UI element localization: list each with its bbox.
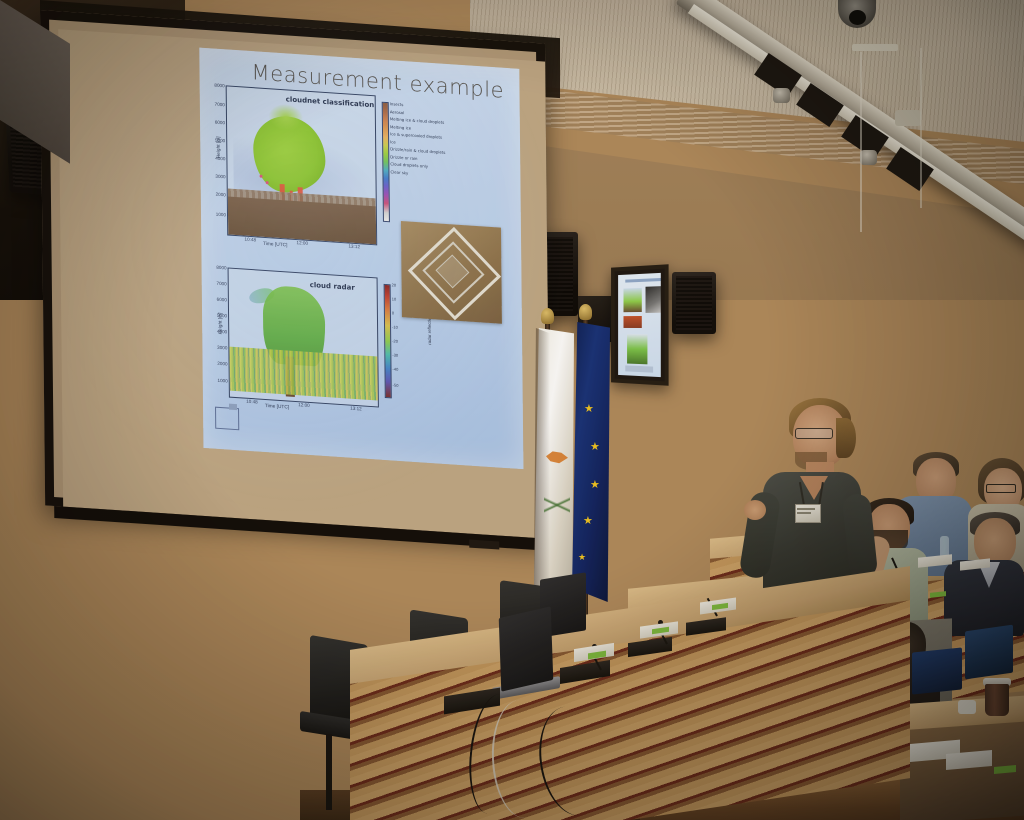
laptop-screen-front: [499, 606, 554, 691]
spotlight-icon: [773, 88, 790, 103]
colorbar-tick: -40: [392, 366, 398, 371]
projected-slide: Measurement example: [199, 48, 523, 470]
eu-star-icon: ★: [583, 516, 593, 527]
spotlight-icon: [860, 150, 877, 165]
monitor-colorbar-thumb: [623, 316, 641, 328]
colorbar-tick: -20: [392, 338, 398, 343]
y-tick: 1000: [216, 212, 226, 218]
laptop-screen-right: [912, 647, 962, 694]
y-tick: 6000: [217, 297, 227, 303]
x-axis-label-bottom: Time [UTC]: [265, 404, 289, 411]
radar-photo-inset: [401, 221, 502, 324]
ceiling-fixture: [895, 110, 921, 126]
dome-camera-lens: [849, 10, 866, 25]
eu-star-icon: ★: [584, 404, 594, 415]
flagpole-finial: [541, 308, 554, 324]
y-axis-label-bottom: Height [m]: [218, 312, 223, 334]
chart-cloud-radar: 8000 7000 6000 5000 4000 3000 2000 1000 …: [228, 267, 379, 407]
colorbar-tick: 20: [392, 282, 397, 287]
monitor-photo-thumb: [646, 286, 661, 313]
x-tick: 13:12: [348, 244, 360, 250]
colorbar-tick: -30: [392, 352, 398, 357]
classification-colorbar: [382, 102, 390, 223]
flagpole-finial: [579, 304, 592, 320]
olive-branches-emblem: [544, 480, 570, 528]
y-tick: 6000: [215, 120, 225, 126]
reflectivity-colorbar: [384, 284, 392, 399]
lecture-hall-photo: Measurement example: [0, 0, 1024, 820]
y-axis-label-top: Height [m]: [217, 136, 222, 158]
projection-screen-frame: Measurement example: [40, 10, 550, 539]
presenter-badge-text-line: [797, 512, 811, 514]
y-tick: 7000: [215, 102, 225, 108]
laptop-screen-far-right: [965, 625, 1013, 680]
y-tick: 2000: [216, 192, 226, 198]
monitor-chart-thumb: [627, 334, 647, 364]
colorbar-tick: 10: [392, 296, 397, 301]
x-tick: 13:12: [350, 406, 362, 412]
wall-speaker-right-grille: [676, 276, 712, 330]
presenter-glasses: [795, 428, 833, 439]
ceiling-bracket: [852, 44, 898, 51]
drizzle-pixel: [266, 181, 269, 184]
eu-star-icon: ★: [578, 552, 586, 563]
attendee-2-glasses: [986, 484, 1016, 493]
boundary-layer-texture: [229, 347, 377, 401]
monitor-caption-bar: [625, 365, 653, 372]
presenter-badge-text-line: [797, 508, 815, 510]
colorbar-tick: -50: [393, 382, 399, 387]
presenter-left-hand: [744, 500, 766, 520]
colorbar-tick: -10: [392, 324, 398, 329]
chair-leg: [326, 734, 332, 810]
colorbar-tick: 0: [392, 310, 394, 315]
x-tick: 10:48: [246, 399, 258, 405]
wall-monitor: [611, 264, 669, 386]
y-tick: 8000: [214, 83, 224, 89]
eu-star-icon: ★: [590, 442, 600, 453]
projection-screen: Measurement example: [40, 10, 550, 544]
x-axis-label-top: Time [UTC]: [263, 242, 287, 249]
x-tick: 12:00: [296, 240, 308, 246]
coffee-cup: [985, 684, 1009, 716]
chart-cloud-radar-data: [229, 269, 378, 407]
ceiling-hanger-wire: [860, 52, 862, 232]
y-tick: 8000: [216, 265, 226, 271]
ceiling-hanger-wire: [920, 48, 922, 208]
eu-star-icon: ★: [590, 480, 600, 491]
y-tick: 1000: [217, 378, 227, 384]
chart-cloudnet-data: [227, 86, 377, 244]
y-tick: 3000: [217, 345, 227, 351]
y-tick: 3000: [215, 174, 225, 180]
drizzle-pixel: [260, 175, 263, 178]
napkin: [958, 700, 976, 714]
slide-logo-mark: [229, 404, 237, 411]
x-tick: 12:00: [298, 402, 310, 408]
monitor-chart-thumb: [623, 288, 641, 312]
chart-cloudnet-classification: 8000 7000 6000 5000 4000 3000 2000 1000 …: [226, 85, 378, 245]
cyprus-flag-shadow: [534, 328, 550, 596]
slide-logo: [215, 407, 239, 431]
wall-monitor-screen: [618, 273, 661, 377]
presenter-hair-side: [836, 418, 856, 458]
y-tick: 2000: [217, 361, 227, 367]
classification-legend: Insects Aerosol Melting ice & cloud drop…: [390, 100, 461, 180]
monitor-slide-title-bar: [625, 278, 661, 283]
y-tick: 7000: [216, 281, 226, 287]
x-tick: 10:48: [244, 237, 256, 243]
